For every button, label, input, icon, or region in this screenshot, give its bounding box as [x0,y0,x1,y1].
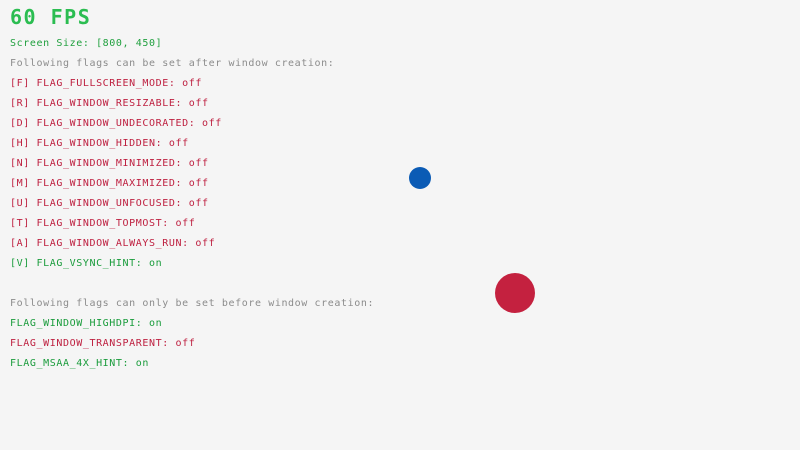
section-heading-before-creation: Following flags can only be set before w… [10,298,374,310]
red-circle-shape [495,273,535,313]
flag-row-vsync-hint[interactable]: [V] FLAG_VSYNC_HINT: on [10,258,162,270]
blue-circle-shape [409,167,431,189]
flag-row-window-always-run[interactable]: [A] FLAG_WINDOW_ALWAYS_RUN: off [10,238,215,250]
flag-row-msaa-4x-hint: FLAG_MSAA_4X_HINT: on [10,358,149,370]
section-heading-after-creation: Following flags can be set after window … [10,58,334,70]
flag-row-window-undecorated[interactable]: [D] FLAG_WINDOW_UNDECORATED: off [10,118,222,130]
flag-row-window-hidden[interactable]: [H] FLAG_WINDOW_HIDDEN: off [10,138,189,150]
flag-row-window-minimized[interactable]: [N] FLAG_WINDOW_MINIMIZED: off [10,158,209,170]
screen-size-label: Screen Size: [800, 450] [10,38,162,50]
raylib-window-canvas[interactable]: 60 FPS Screen Size: [800, 450] Following… [0,0,800,450]
fps-counter: 60 FPS [10,6,91,28]
flag-row-window-topmost[interactable]: [T] FLAG_WINDOW_TOPMOST: off [10,218,195,230]
flag-row-window-maximized[interactable]: [M] FLAG_WINDOW_MAXIMIZED: off [10,178,209,190]
flag-row-window-unfocused[interactable]: [U] FLAG_WINDOW_UNFOCUSED: off [10,198,209,210]
flag-row-window-transparent: FLAG_WINDOW_TRANSPARENT: off [10,338,195,350]
flag-row-window-resizable[interactable]: [R] FLAG_WINDOW_RESIZABLE: off [10,98,209,110]
flag-row-window-highdpi: FLAG_WINDOW_HIGHDPI: on [10,318,162,330]
flag-row-fullscreen-mode[interactable]: [F] FLAG_FULLSCREEN_MODE: off [10,78,202,90]
